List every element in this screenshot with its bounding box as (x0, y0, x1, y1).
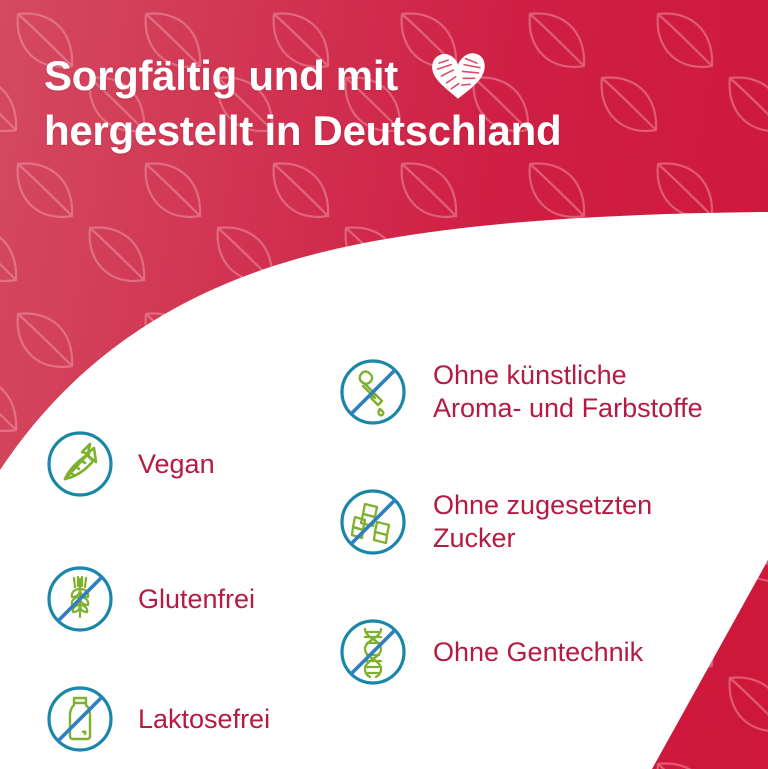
sugar-cubes-icon (337, 486, 409, 558)
milk-bottle-icon (44, 683, 116, 755)
badge-ohne-kuenstliche-aroma-und-farbstoffe: Ohne künstliche Aroma- und Farbstoffe (337, 356, 703, 428)
badge-ohne-gentechnik: Ohne Gentechnik (337, 616, 643, 688)
badge-glutenfrei: Glutenfrei (44, 563, 255, 635)
pipette-dropper-icon (337, 356, 409, 428)
badge-label-ohne-zugesetzten-zucker: Ohne zugesetzten Zucker (433, 489, 652, 555)
headline-line-1: Sorgfältig und mit (44, 48, 734, 103)
carrot-icon (44, 428, 116, 500)
headline-line-1-text: Sorgfältig und mit (44, 52, 398, 99)
badge-label-laktosefrei: Laktosefrei (138, 703, 270, 736)
badge-ohne-zugesetzten-zucker: Ohne zugesetzten Zucker (337, 486, 652, 558)
badge-laktosefrei: Laktosefrei (44, 683, 270, 755)
infographic-root: Sorgfältig und mit (0, 0, 768, 769)
badge-label-ohne-kuenstliche-aroma: Ohne künstliche Aroma- und Farbstoffe (433, 359, 703, 425)
wheat-icon (44, 563, 116, 635)
dna-helix-icon (337, 616, 409, 688)
headline-line-2: hergestellt in Deutschland (44, 103, 734, 158)
page-title: Sorgfältig und mit (44, 48, 734, 159)
heart-icon (419, 51, 497, 101)
badge-label-vegan: Vegan (138, 448, 215, 481)
badge-label-ohne-gentechnik: Ohne Gentechnik (433, 636, 643, 669)
badge-vegan: Vegan (44, 428, 215, 500)
badge-label-glutenfrei: Glutenfrei (138, 583, 255, 616)
